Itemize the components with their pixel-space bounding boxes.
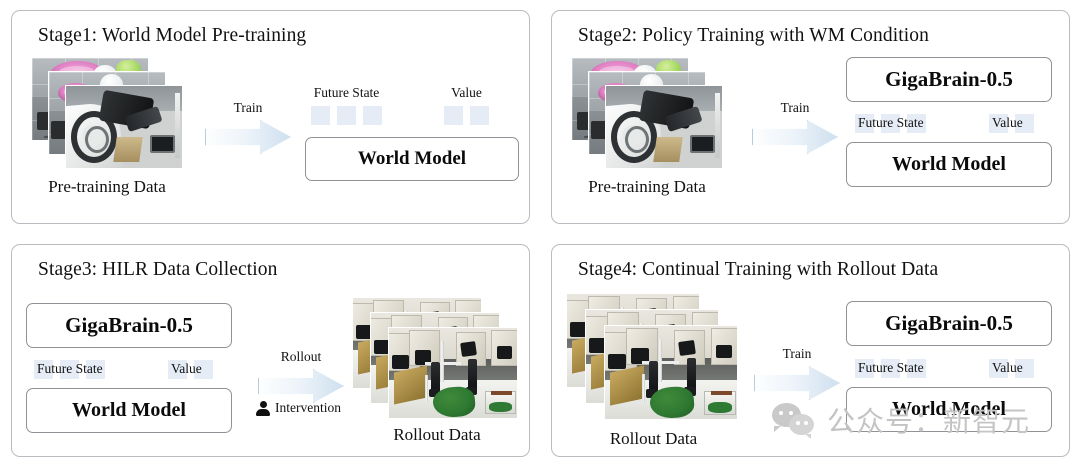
panel-stage4: Stage4: Continual Training with Rollout … (551, 244, 1070, 457)
caption-pretraining-data: Pre-training Data (571, 177, 723, 197)
photo-stack-pretraining-data (31, 57, 183, 169)
intervention-label: Intervention (275, 400, 341, 416)
token-group-value-stage1: Value (444, 85, 489, 125)
token-label-future-state: Future State (855, 360, 924, 376)
caption-rollout-data: Rollout Data (566, 429, 741, 449)
token-label-value: Value (989, 360, 1023, 376)
photo-stack-rollout-data (352, 297, 522, 422)
photo-stack-rollout-data (566, 293, 741, 423)
photo-thumbnail (605, 85, 723, 169)
token-group-future-state-stage1: Future State (311, 85, 382, 125)
arrow-label-train: Train (781, 100, 810, 116)
model-box-world-model: World Model (846, 142, 1052, 187)
block-arrow-icon (205, 120, 291, 154)
block-arrow-icon (754, 366, 840, 400)
person-icon (256, 401, 270, 416)
token-label-future-state: Future State (34, 361, 103, 377)
model-box-gigabrain: GigaBrain-0.5 (846, 57, 1052, 102)
token-chips-future-state (311, 106, 382, 125)
model-box-gigabrain: GigaBrain-0.5 (26, 303, 232, 348)
token-group-future-state-stage2: Future State (855, 112, 955, 134)
arrow-label-train: Train (234, 100, 263, 116)
model-box-gigabrain: GigaBrain-0.5 (846, 301, 1052, 346)
block-arrow-icon (258, 369, 344, 403)
token-chip (311, 106, 330, 125)
token-chips-value (444, 106, 489, 125)
panel-stage1: Stage1: World Model Pre-training (11, 10, 530, 224)
panel-title-stage4: Stage4: Continual Training with Rollout … (578, 259, 938, 281)
panel-title-stage3: Stage3: HILR Data Collection (38, 259, 277, 281)
model-box-world-model: World Model (305, 137, 519, 181)
stage-grid: Stage1: World Model Pre-training (0, 0, 1080, 467)
token-label-value: Value (989, 115, 1023, 131)
token-label-future-state: Future State (311, 85, 382, 101)
caption-rollout-data: Rollout Data (352, 425, 522, 445)
model-box-world-model: World Model (26, 388, 232, 433)
token-chip (363, 106, 382, 125)
token-group-value-stage2: Value (989, 112, 1049, 134)
token-group-future-state-stage4: Future State (855, 357, 955, 379)
photo-thumbnail (65, 85, 183, 169)
block-arrow-icon (752, 120, 838, 154)
token-chip (444, 106, 463, 125)
panel-title-stage2: Stage2: Policy Training with WM Conditio… (578, 25, 929, 47)
photo-thumbnail (604, 325, 738, 420)
caption-pretraining-data: Pre-training Data (31, 177, 183, 197)
photo-stack-pretraining-data (571, 57, 723, 169)
token-label-value: Value (168, 361, 202, 377)
token-chip (337, 106, 356, 125)
model-box-world-model: World Model (846, 387, 1052, 432)
token-group-future-state-stage3: Future State (34, 358, 134, 380)
intervention-annotation: Intervention (256, 400, 341, 416)
photo-thumbnail (388, 327, 518, 419)
panel-title-stage1: Stage1: World Model Pre-training (38, 25, 306, 47)
token-group-value-stage4: Value (989, 357, 1049, 379)
token-chip (470, 106, 489, 125)
panel-stage3: Stage3: HILR Data Collection GigaBrain-0… (11, 244, 530, 457)
token-label-future-state: Future State (855, 115, 924, 131)
arrow-label-train: Train (783, 346, 812, 362)
token-group-value-stage3: Value (168, 358, 228, 380)
panel-stage2: Stage2: Policy Training with WM Conditio… (551, 10, 1070, 224)
arrow-label-rollout: Rollout (281, 349, 322, 365)
token-label-value: Value (444, 85, 489, 101)
